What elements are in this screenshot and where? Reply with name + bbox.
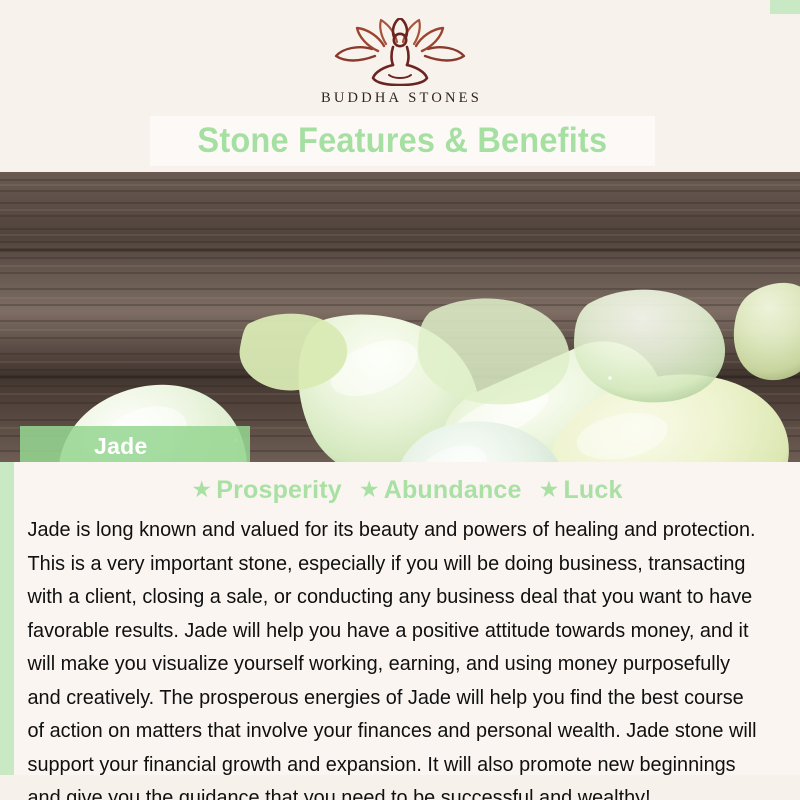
benefit-item-luck: ★Luck xyxy=(539,476,623,504)
star-icon: ★ xyxy=(539,476,560,502)
content-panel: ★Prosperity★Abundance★Luck Jade is long … xyxy=(14,462,800,775)
lotus-meditation-icon xyxy=(329,18,471,86)
benefit-item-prosperity: ★Prosperity xyxy=(191,476,342,504)
stone-photo xyxy=(0,172,800,462)
star-icon: ★ xyxy=(359,476,380,502)
stone-name-label: Jade xyxy=(94,433,148,460)
benefit-label-luck: Luck xyxy=(563,476,622,504)
brand-wordmark: BUDDHA STONES xyxy=(0,90,800,107)
benefit-item-abundance: ★Abundance xyxy=(359,476,522,504)
benefit-label-prosperity: Prosperity xyxy=(216,476,342,504)
stone-name-badge: Jade xyxy=(20,426,250,466)
description-text: Jade is long known and valued for its be… xyxy=(14,511,772,800)
benefit-label-abundance: Abundance xyxy=(384,476,522,504)
title-banner: Stone Features & Benefits xyxy=(150,116,655,166)
stone-info-card: BUDDHA STONES Stone Features & Benefits xyxy=(0,0,800,800)
brand-logo: BUDDHA STONES xyxy=(0,18,800,107)
page-title: Stone Features & Benefits xyxy=(198,121,608,161)
benefits-row: ★Prosperity★Abundance★Luck xyxy=(14,462,800,511)
star-icon: ★ xyxy=(191,476,212,502)
